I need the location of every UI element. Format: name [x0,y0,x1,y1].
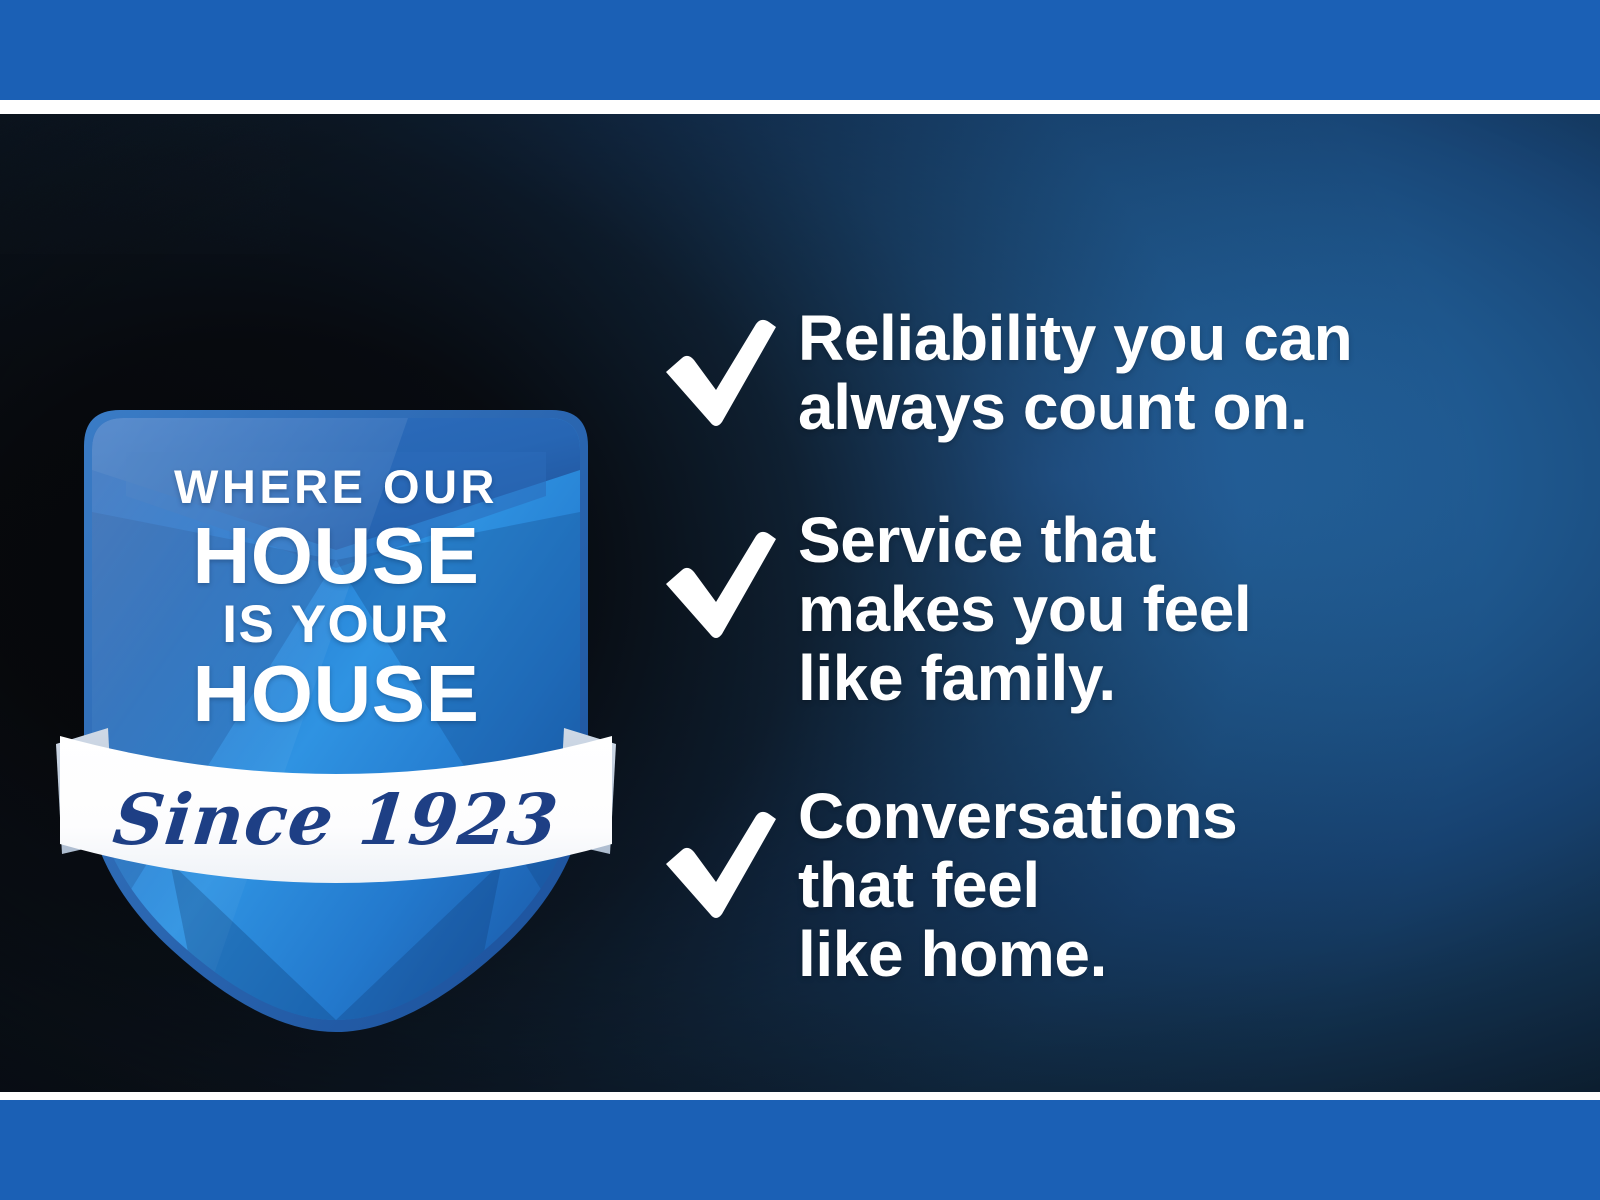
checkmark-icon [660,506,798,640]
shield-badge: WHERE OUR HOUSE IS YOUR HOUSE Since 1923 [78,392,594,1032]
benefit-item: Reliability you can always count on. [660,304,1540,442]
bottom-brand-bar [0,1100,1600,1200]
benefit-line: like family. [798,644,1540,713]
bottom-white-separator [0,1092,1600,1100]
benefit-line: Service that [798,506,1540,575]
shield-tagline: WHERE OUR HOUSE IS YOUR HOUSE [78,464,594,738]
benefit-line: always count on. [798,373,1540,442]
top-brand-bar [0,0,1600,100]
shield-line-4: HOUSE [78,655,594,733]
promo-graphic-canvas: WHERE OUR HOUSE IS YOUR HOUSE Since 1923… [0,0,1600,1200]
benefit-line: like home. [798,920,1540,989]
benefit-line: Reliability you can [798,304,1540,373]
checkmark-icon [660,782,798,920]
shield-line-1: WHERE OUR [78,464,594,510]
benefit-line: makes you feel [798,575,1540,644]
benefit-item: Conversations that feel like home. [660,782,1540,989]
benefits-list: Reliability you can always count on. Ser… [660,304,1540,989]
shield-since-text: Since 1923 [74,778,599,861]
benefit-line: that feel [798,851,1540,920]
benefit-text: Conversations that feel like home. [798,782,1540,989]
benefit-line: Conversations [798,782,1540,851]
shield-line-3: IS YOUR [78,599,594,651]
main-stage: WHERE OUR HOUSE IS YOUR HOUSE Since 1923… [0,114,1600,1092]
top-white-separator [0,100,1600,114]
checkmark-icon [660,304,798,428]
benefit-text: Service that makes you feel like family. [798,506,1540,713]
benefit-item: Service that makes you feel like family. [660,506,1540,713]
background-noise-texture [0,114,290,254]
shield-line-2: HOUSE [78,517,594,595]
benefit-text: Reliability you can always count on. [798,304,1540,442]
